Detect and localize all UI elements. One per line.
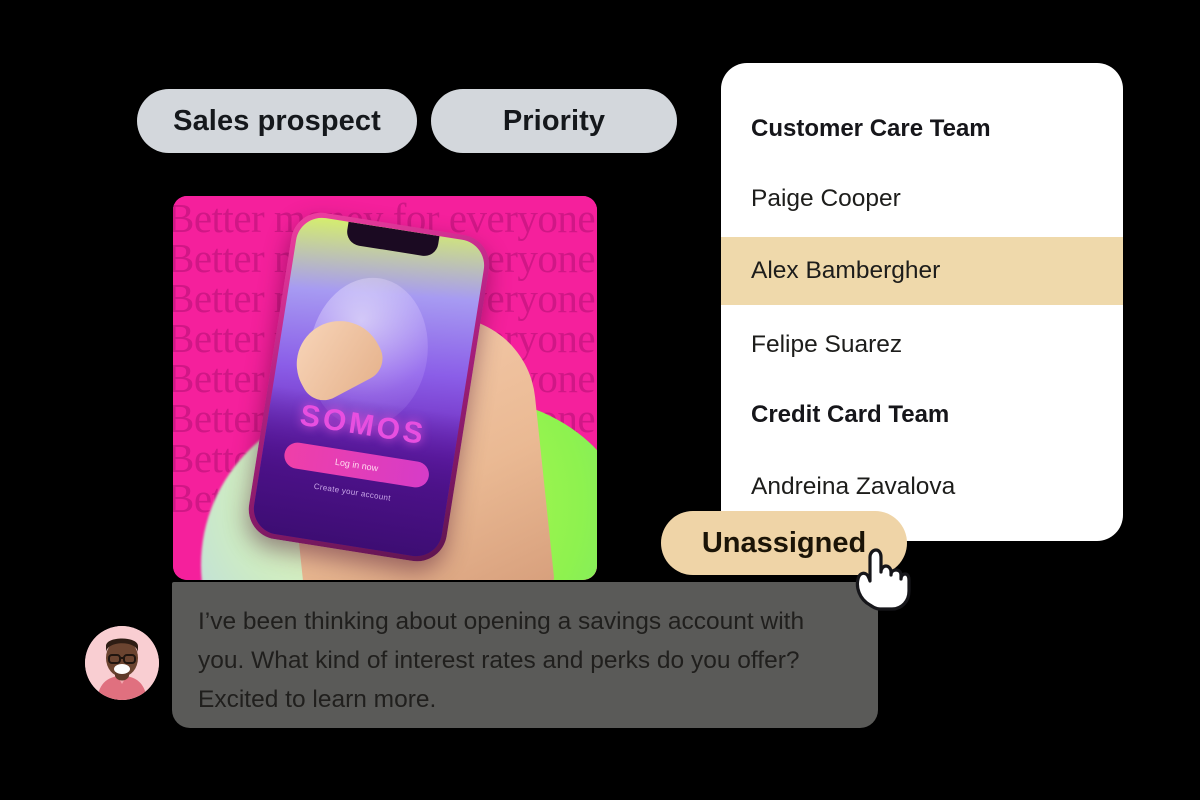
customer-avatar[interactable] [85, 626, 159, 700]
message-text: I’ve been thinking about opening a savin… [198, 602, 852, 719]
tag-priority[interactable]: Priority [431, 89, 677, 153]
menu-group-credit-card-team[interactable]: Credit Card Team [721, 381, 1123, 449]
menu-item-felipe-suarez[interactable]: Felipe Suarez [721, 311, 1123, 379]
avatar-illustration [85, 626, 159, 700]
canvas: Sales prospect Priority Better money for… [0, 0, 1200, 800]
message-bubble: I’ve been thinking about opening a savin… [172, 582, 878, 728]
attached-media-image[interactable]: Better money for everyone Better money f… [173, 196, 597, 580]
menu-item-paige-cooper[interactable]: Paige Cooper [721, 165, 1123, 233]
assignee-dropdown-menu[interactable]: Customer Care Team Paige Cooper Alex Bam… [721, 63, 1123, 541]
assignee-unassigned-button[interactable]: Unassigned [661, 511, 907, 575]
tag-sales-prospect[interactable]: Sales prospect [137, 89, 417, 153]
menu-group-customer-care-team[interactable]: Customer Care Team [721, 95, 1123, 163]
promo-artwork: Better money for everyone Better money f… [173, 196, 597, 580]
menu-item-alex-bambergher[interactable]: Alex Bambergher [721, 237, 1123, 305]
